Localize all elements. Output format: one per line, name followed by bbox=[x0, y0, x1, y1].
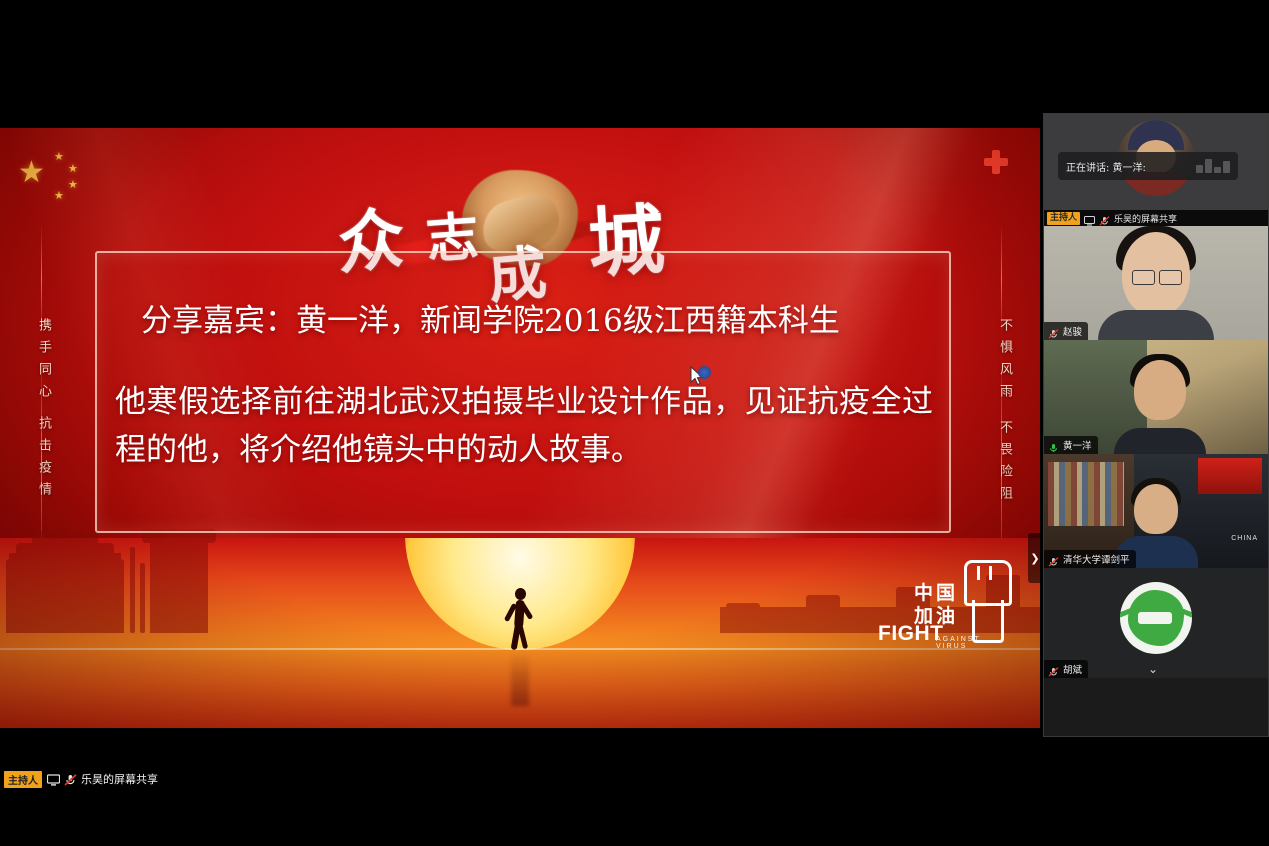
participant-name-row: 胡斌 bbox=[1044, 660, 1088, 678]
active-speaker-tile[interactable]: 正在讲话: 黄一洋: 主持人 乐昊的屏幕共享 bbox=[1044, 114, 1268, 226]
microphone-muted-icon bbox=[1048, 554, 1059, 564]
presentation-slide: ★ ★ ★ ★ ★ 众 志 成 城 bbox=[0, 128, 1040, 728]
meeting-window: ★ ★ ★ ★ ★ 众 志 成 城 bbox=[0, 0, 1269, 846]
logo-cn-line1: 中国 bbox=[914, 582, 958, 605]
host-badge: 主持人 bbox=[4, 771, 42, 788]
microphone-muted-icon bbox=[64, 773, 76, 785]
avatar bbox=[1120, 582, 1192, 654]
speaking-label: 正在讲话: 黄一洋: bbox=[1066, 159, 1146, 174]
body-text: 他寒假选择前往湖北武汉拍摄毕业设计作品，见证抗疫全过程的他，将介绍他镜头中的动人… bbox=[115, 378, 933, 474]
mouse-cursor bbox=[690, 366, 704, 386]
screen-share-label: 乐昊的屏幕共享 bbox=[1114, 212, 1177, 225]
participant-name-row: 清华大学谭剑平 bbox=[1044, 550, 1136, 568]
guest-line: 分享嘉宾：黄一洋，新闻学院2016级江西籍本科生 bbox=[141, 295, 840, 340]
microphone-active-icon bbox=[1048, 440, 1059, 450]
audio-waveform-icon bbox=[1196, 159, 1230, 173]
participant-name: 黄一洋 bbox=[1063, 438, 1092, 452]
microphone-muted-icon bbox=[1048, 664, 1059, 674]
microphone-muted-icon bbox=[1048, 326, 1059, 336]
screen-share-status-bar: 主持人 乐昊的屏幕共享 bbox=[0, 770, 158, 788]
participant-name: 清华大学谭剑平 bbox=[1063, 552, 1130, 566]
participant-thumbnail-panel[interactable]: 正在讲话: 黄一洋: 主持人 乐昊的屏幕共享 bbox=[1043, 113, 1269, 737]
logo-en: FIGHT bbox=[878, 622, 944, 646]
logo-en-small: AGAINST VIRUS bbox=[936, 636, 1006, 650]
microphone-muted-icon bbox=[1099, 213, 1110, 223]
raised-fist-icon bbox=[964, 560, 1006, 640]
slide-text-box: 分享嘉宾：黄一洋，新闻学院2016级江西籍本科生 他寒假选择前往湖北武汉拍摄毕业… bbox=[95, 251, 951, 533]
participant-name-row: 黄一洋 bbox=[1044, 436, 1098, 454]
expand-panel-button[interactable]: ❯ bbox=[1028, 533, 1040, 583]
speaking-indicator: 正在讲话: 黄一洋: bbox=[1058, 152, 1238, 180]
participant-tile[interactable]: 黄一洋 bbox=[1044, 340, 1268, 454]
participant-tile[interactable]: CHINA 清华大学谭剑平 bbox=[1044, 454, 1268, 568]
participant-name: 胡斌 bbox=[1063, 662, 1082, 676]
participant-name: 赵骏 bbox=[1063, 324, 1082, 338]
chevron-down-icon[interactable]: ⌄ bbox=[1148, 662, 1158, 676]
screen-share-icon bbox=[47, 773, 59, 785]
screen-share-label: 乐昊的屏幕共享 bbox=[81, 771, 158, 787]
participant-tile[interactable]: 胡斌 ⌄ bbox=[1044, 568, 1268, 678]
participant-name-row: 赵骏 bbox=[1044, 322, 1088, 340]
host-badge: 主持人 bbox=[1047, 212, 1080, 225]
screen-share-bar: 主持人 乐昊的屏幕共享 bbox=[1044, 210, 1268, 226]
participant-tile[interactable]: 赵骏 bbox=[1044, 226, 1268, 340]
shared-screen-area[interactable]: ★ ★ ★ ★ ★ 众 志 成 城 bbox=[0, 128, 1040, 728]
screen-share-icon bbox=[1084, 213, 1095, 223]
fight-against-virus-logo: 中国 加油 FIGHT AGAINST VIRUS bbox=[878, 560, 1006, 650]
